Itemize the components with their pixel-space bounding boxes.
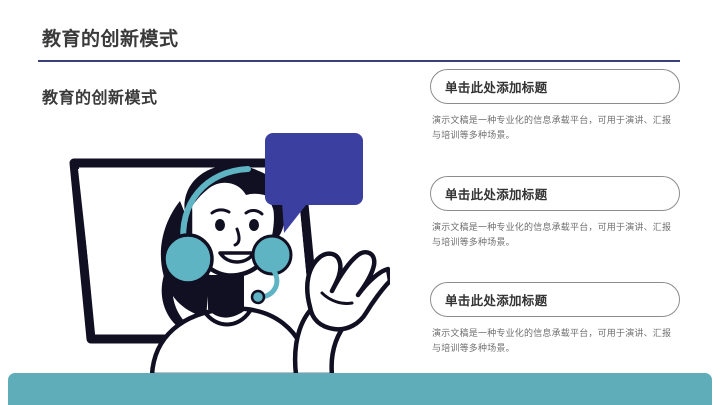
card-body-text: 演示文稿是一种专业化的信息承载平台，可用于演讲、汇报与培训等多种场景。 [430, 326, 678, 356]
card-heading-label: 单击此处添加标题 [445, 77, 547, 96]
footer-accent-bar [8, 373, 712, 405]
card-heading-label: 单击此处添加标题 [445, 184, 547, 203]
card-heading-label: 单击此处添加标题 [445, 290, 547, 309]
card-body-text: 演示文稿是一种专业化的信息承载平台，可用于演讲、汇报与培训等多种场景。 [430, 113, 678, 143]
illustration-woman-headset-monitor [60, 125, 390, 375]
slide-canvas: 教育的创新模式 教育的创新模式 [0, 0, 720, 405]
content-card: 单击此处添加标题 演示文稿是一种专业化的信息承载平台，可用于演讲、汇报与培训等多… [430, 69, 680, 143]
card-heading-pill[interactable]: 单击此处添加标题 [430, 69, 680, 104]
waving-hand [295, 252, 390, 375]
page-title: 教育的创新模式 [42, 29, 179, 52]
content-card-list: 单击此处添加标题 演示文稿是一种专业化的信息承载平台，可用于演讲、汇报与培训等多… [430, 69, 680, 356]
headset-mic-tip [252, 291, 264, 303]
card-body-text: 演示文稿是一种专业化的信息承载平台，可用于演讲、汇报与培训等多种场景。 [430, 220, 678, 250]
section-subtitle: 教育的创新模式 [42, 84, 158, 108]
content-card: 单击此处添加标题 演示文稿是一种专业化的信息承载平台，可用于演讲、汇报与培训等多… [430, 282, 680, 356]
card-heading-pill[interactable]: 单击此处添加标题 [430, 282, 680, 317]
card-heading-pill[interactable]: 单击此处添加标题 [430, 176, 680, 211]
headset-earcup-right [253, 236, 291, 274]
headset-earcup-left [164, 235, 212, 283]
content-card: 单击此处添加标题 演示文稿是一种专业化的信息承载平台，可用于演讲、汇报与培训等多… [430, 176, 680, 250]
header-divider [38, 60, 680, 62]
